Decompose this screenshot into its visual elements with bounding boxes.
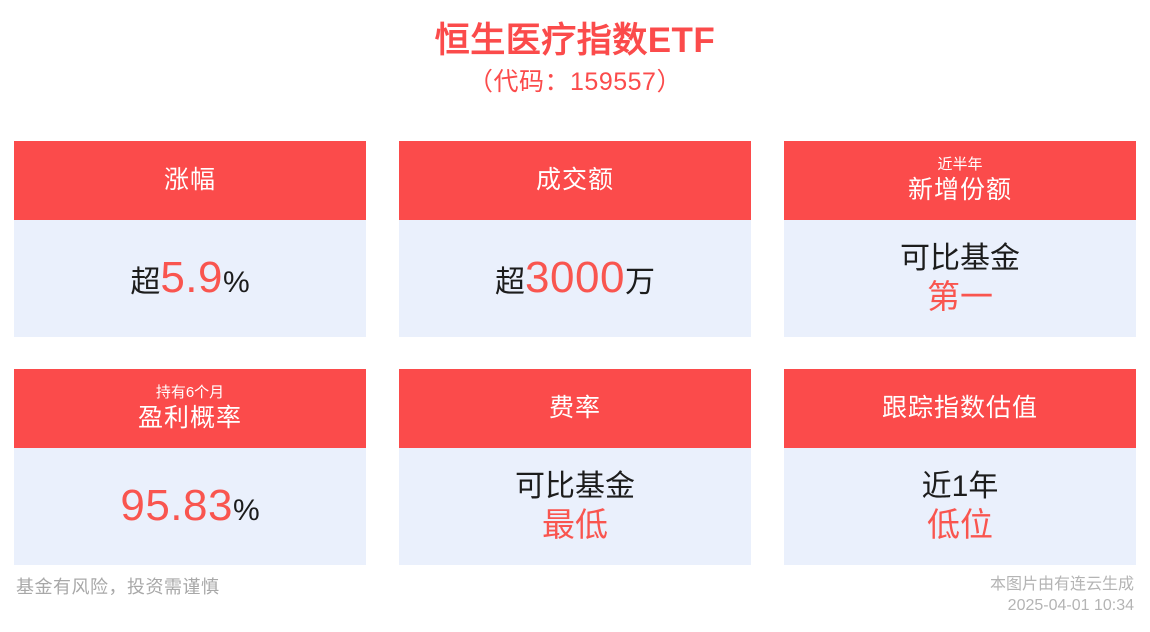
card-header-title: 盈利概率 <box>138 403 242 434</box>
metric-suffix: % <box>233 491 260 531</box>
card-header-title: 跟踪指数估值 <box>882 393 1038 424</box>
metric-value: 低位 <box>927 505 993 545</box>
metric-suffix: % <box>223 263 250 303</box>
page-header: 恒生医疗指数ETF （代码：159557） <box>0 0 1150 100</box>
metric-value: 第一 <box>927 277 993 317</box>
card-header-title: 费率 <box>549 393 601 424</box>
card-header-title: 成交额 <box>536 165 614 196</box>
card-header-title: 新增份额 <box>908 175 1012 206</box>
card-body-turnover: 超 3000 万 <box>399 220 751 337</box>
metric-value: 95.83 <box>120 482 233 530</box>
card-body-fee-rate: 可比基金 最低 <box>399 448 751 565</box>
metric-card-index-valuation[interactable]: 跟踪指数估值 近1年 低位 <box>784 369 1136 565</box>
card-header-turnover: 成交额 <box>399 141 751 220</box>
card-body-gain: 超 5.9 % <box>14 220 366 337</box>
metric-value: 最低 <box>542 505 608 545</box>
metric-prefix: 超 <box>495 263 525 303</box>
card-header-subtitle: 近半年 <box>937 155 982 175</box>
risk-disclaimer: 基金有风险，投资需谨慎 <box>16 574 220 600</box>
metric-value: 3000 <box>525 254 625 302</box>
metric-qualifier: 可比基金 <box>900 241 1020 277</box>
metric-suffix: 万 <box>625 263 655 303</box>
card-body-index-valuation: 近1年 低位 <box>784 448 1136 565</box>
metric-value-row: 超 3000 万 <box>495 254 655 303</box>
metric-qualifier: 可比基金 <box>515 469 635 505</box>
metric-value: 5.9 <box>160 254 223 302</box>
metric-card-profit-probability[interactable]: 持有6个月 盈利概率 95.83 % <box>14 369 366 565</box>
credit-source: 本图片由有连云生成 <box>990 574 1134 595</box>
card-body-profit-probability: 95.83 % <box>14 448 366 565</box>
card-header-gain: 涨幅 <box>14 141 366 220</box>
card-header-new-shares: 近半年 新增份额 <box>784 141 1136 220</box>
metric-card-turnover[interactable]: 成交额 超 3000 万 <box>399 141 751 337</box>
card-header-index-valuation: 跟踪指数估值 <box>784 369 1136 448</box>
metric-value-row: 95.83 % <box>120 482 259 531</box>
credit-timestamp: 2025-04-01 10:34 <box>990 595 1134 616</box>
card-header-subtitle: 持有6个月 <box>156 383 224 403</box>
card-header-profit-probability: 持有6个月 盈利概率 <box>14 369 366 448</box>
page-footer: 基金有风险，投资需谨慎 本图片由有连云生成 2025-04-01 10:34 <box>0 574 1150 622</box>
metric-prefix: 超 <box>130 263 160 303</box>
card-header-title: 涨幅 <box>164 165 216 196</box>
metric-card-gain[interactable]: 涨幅 超 5.9 % <box>14 141 366 337</box>
metric-card-new-shares[interactable]: 近半年 新增份额 可比基金 第一 <box>784 141 1136 337</box>
generation-credit: 本图片由有连云生成 2025-04-01 10:34 <box>990 574 1134 616</box>
metric-card-grid: 涨幅 超 5.9 % 成交额 超 3000 万 近半年 新增份额 <box>14 141 1136 565</box>
metric-value-row: 超 5.9 % <box>130 254 249 303</box>
card-header-fee-rate: 费率 <box>399 369 751 448</box>
metric-qualifier: 近1年 <box>922 469 999 505</box>
fund-code-subtitle: （代码：159557） <box>0 64 1150 100</box>
page-title: 恒生医疗指数ETF <box>0 18 1150 64</box>
metric-card-fee-rate[interactable]: 费率 可比基金 最低 <box>399 369 751 565</box>
card-body-new-shares: 可比基金 第一 <box>784 220 1136 337</box>
